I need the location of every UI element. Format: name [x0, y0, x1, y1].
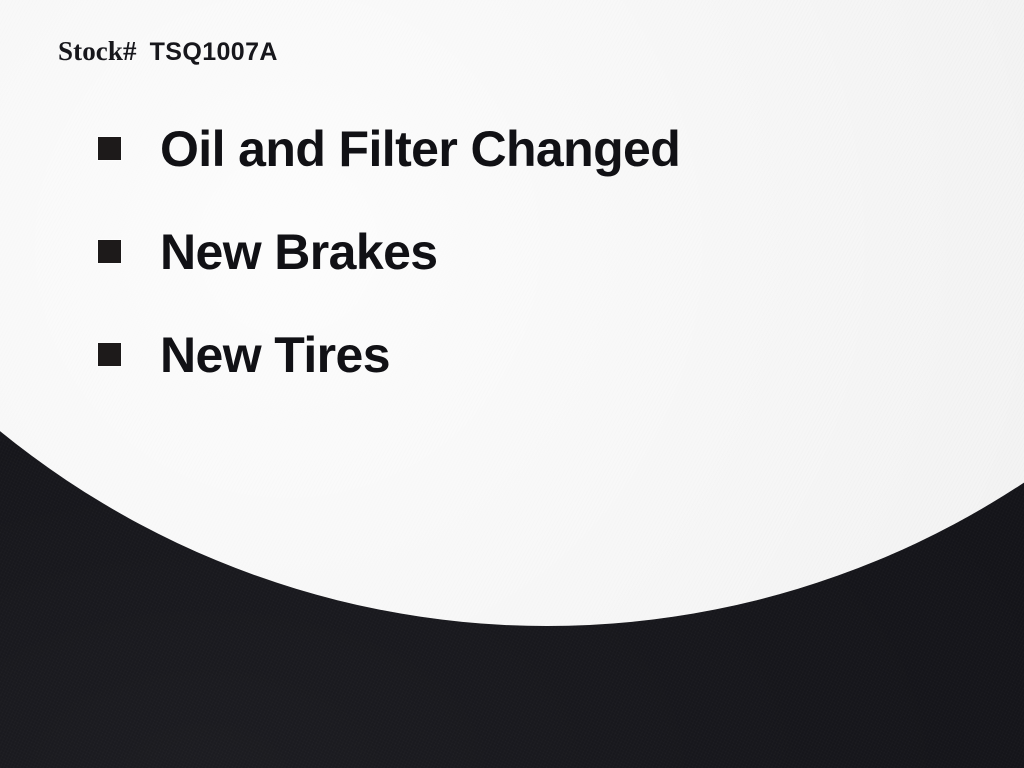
- list-item-label: New Tires: [160, 326, 390, 384]
- stock-number-label: Stock#: [58, 36, 137, 67]
- square-bullet-icon: [98, 343, 121, 366]
- stock-number-value: TSQ1007A: [150, 38, 278, 67]
- square-bullet-icon: [98, 137, 121, 160]
- service-bullet-list: Oil and Filter Changed New Brakes New Ti…: [98, 120, 680, 429]
- presentation-slide: Stock# TSQ1007A Oil and Filter Changed N…: [0, 0, 1024, 768]
- list-item: Oil and Filter Changed: [98, 120, 680, 223]
- slide-content: Stock# TSQ1007A Oil and Filter Changed N…: [0, 0, 1024, 768]
- list-item: New Brakes: [98, 223, 680, 326]
- list-item-label: New Brakes: [160, 223, 438, 281]
- stock-number-line: Stock# TSQ1007A: [58, 36, 278, 67]
- list-item-label: Oil and Filter Changed: [160, 120, 680, 178]
- square-bullet-icon: [98, 240, 121, 263]
- list-item: New Tires: [98, 326, 680, 429]
